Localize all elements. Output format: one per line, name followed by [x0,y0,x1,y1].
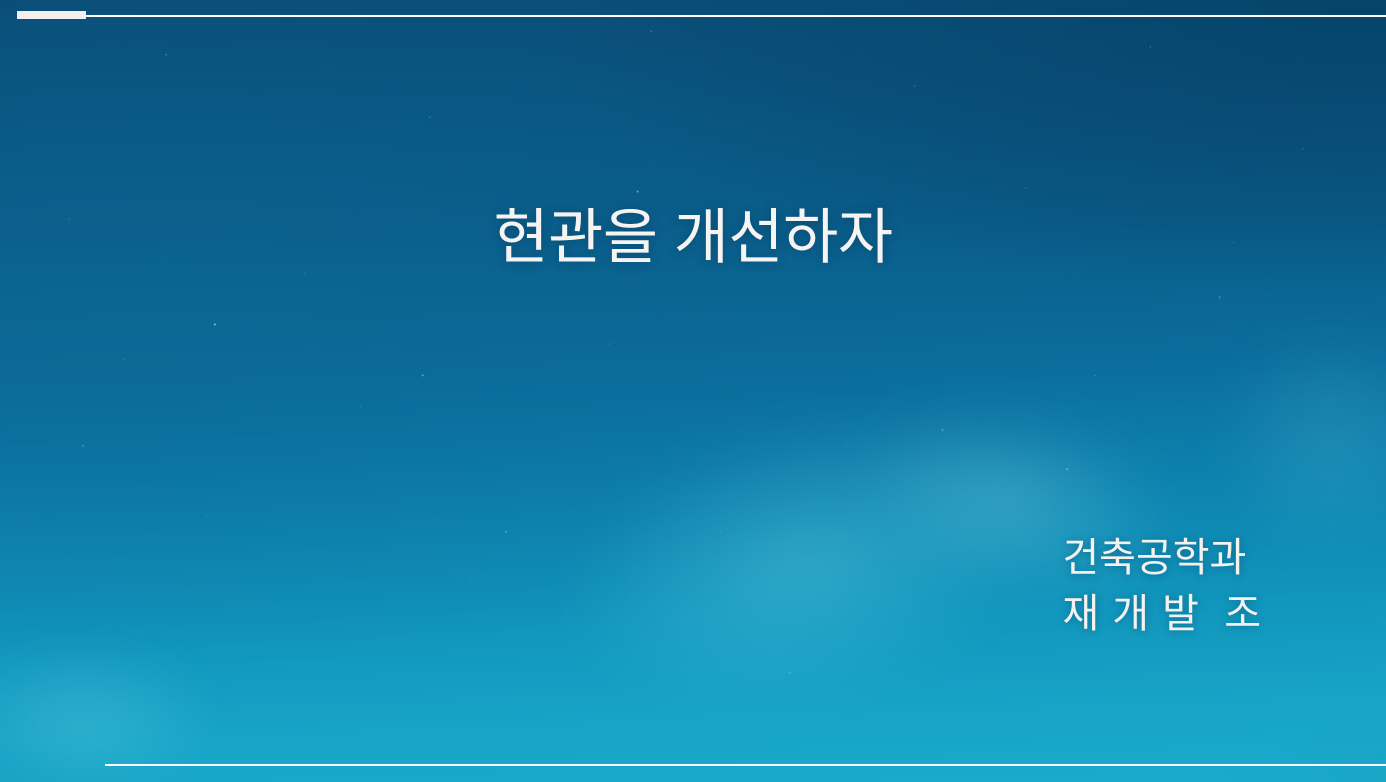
bottom-divider-line [105,764,1386,766]
top-accent-bar [17,11,86,19]
title-container: 현관을 개선하자 [0,206,1386,271]
subtitle-line-department: 건축공학과 [1062,530,1262,586]
top-divider-line [86,15,1386,17]
slide-title: 현관을 개선하자 [493,206,892,271]
title-slide: 현관을 개선하자 건축공학과 재 개 발 조 [0,0,1386,782]
background-vignette [0,0,1386,782]
subtitle-container: 건축공학과 재 개 발 조 [1062,530,1262,642]
subtitle-line-team: 재 개 발 조 [1062,586,1262,642]
